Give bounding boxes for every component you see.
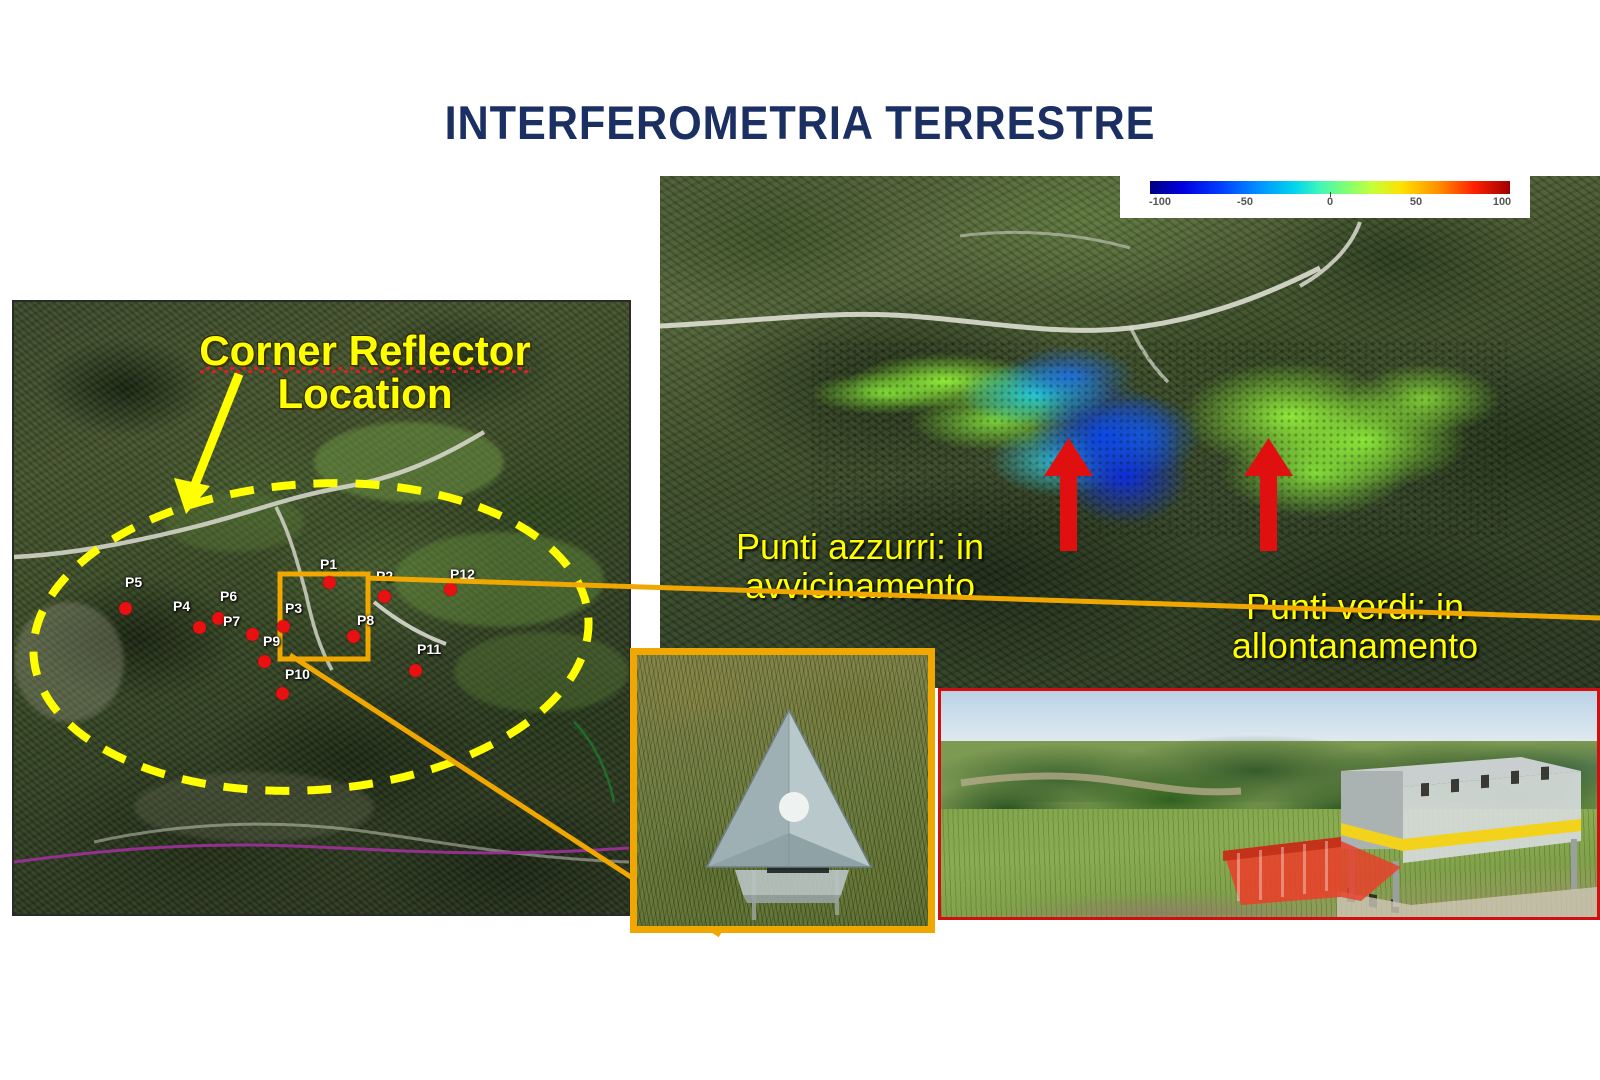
marker-label-P12: P12 [450,566,475,582]
marker-P8[interactable] [347,630,360,643]
aerial-vector-overlay [14,302,629,914]
marker-label-P8: P8 [357,612,374,628]
marker-label-P5: P5 [125,574,142,590]
marker-label-P1: P1 [320,556,337,572]
marker-P11[interactable] [409,664,422,677]
marker-P1[interactable] [323,576,336,589]
radar-shelter [1337,757,1597,917]
marker-label-P3: P3 [285,600,302,616]
marker-label-P7: P7 [223,613,240,629]
page-title: INTERFEROMETRIA TERRESTRE [64,95,1536,150]
marker-P4[interactable] [193,621,206,634]
marker-P3[interactable] [277,620,290,633]
marker-label-P10: P10 [285,666,310,682]
interferometry-result-panel [660,176,1600,688]
annotation-arrow [174,374,239,514]
colorbar-tick-label-2: 0 [1327,196,1333,208]
marker-P5[interactable] [119,602,132,615]
road-line [94,824,629,862]
marker-label-P11: P11 [417,641,441,657]
marker-label-P2: P2 [376,568,393,584]
marker-P12[interactable] [444,583,457,596]
monitored-area-ellipse [23,465,599,809]
marker-label-P9: P9 [263,633,280,649]
colorbar-tick-label-1: -50 [1237,196,1253,208]
marker-P2[interactable] [378,590,391,603]
boundary-line-green [574,722,614,802]
radar-installation-site-photo [938,688,1600,920]
displacement-colorbar-legend: -100 -50 0 50 100 [1120,176,1530,218]
red-arrow-overlay [660,176,1600,688]
marker-P10[interactable] [276,687,289,700]
road-line [374,602,446,644]
corner-reflector-illustration [637,655,928,926]
arrow-to-green-cluster [1244,438,1293,551]
marker-label-P6: P6 [220,588,237,604]
marker-P7[interactable] [246,628,259,641]
colorbar-tick-label-4: 100 [1493,196,1511,208]
dirt-track [961,776,1241,792]
boundary-line-magenta [14,845,629,862]
colorbar-tick-label-3: 50 [1410,196,1422,208]
road-line [276,507,332,670]
arrow-to-blue-cluster [1044,438,1093,551]
colorbar-tick-label-0: -100 [1149,196,1171,208]
left-aerial-photo-panel: P1 P2 P3 P4 P5 P6 P7 P8 P9 P10 P11 P12 [12,300,631,916]
marker-label-P4: P4 [173,598,190,614]
site-equipment-overlay [941,691,1597,917]
corner-reflector-photo [630,648,935,933]
marker-P9[interactable] [258,655,271,668]
